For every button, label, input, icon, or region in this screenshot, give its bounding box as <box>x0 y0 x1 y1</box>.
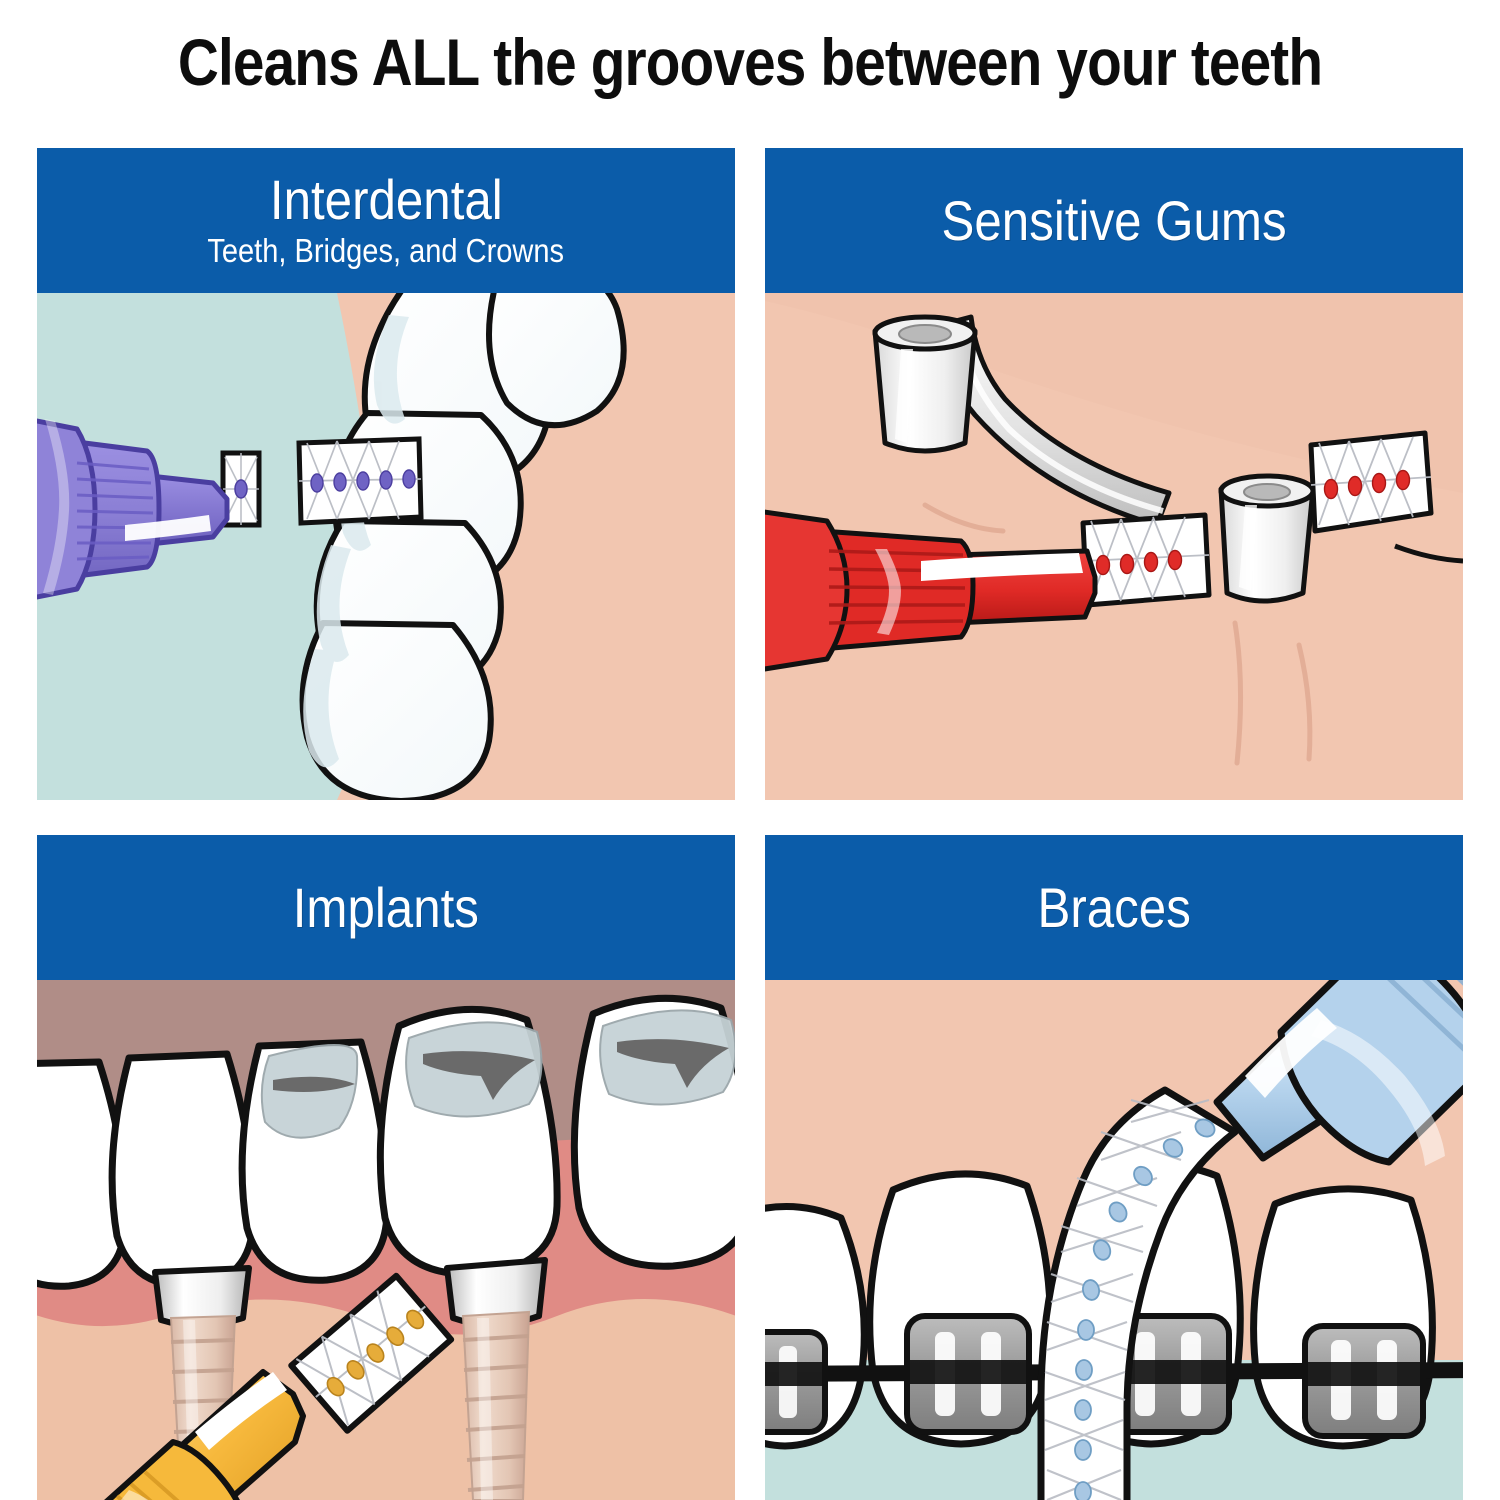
panel-illustration-interdental <box>37 293 735 800</box>
panel-header-interdental: Interdental Teeth, Bridges, and Crowns <box>37 148 735 293</box>
page-title: Cleans ALL the grooves between your teet… <box>105 24 1395 100</box>
panel-header-sensitive-gums: Sensitive Gums <box>765 148 1463 293</box>
panel-implants[interactable]: Implants <box>37 835 735 1500</box>
panel-header-implants: Implants <box>37 835 735 980</box>
panel-sensitive-gums[interactable]: Sensitive Gums <box>765 148 1463 800</box>
panel-title-implants: Implants <box>293 879 479 936</box>
panel-title-interdental: Interdental <box>270 171 503 228</box>
panel-illustration-braces <box>765 980 1463 1500</box>
panel-title-braces: Braces <box>1037 879 1190 936</box>
panel-grid: Interdental Teeth, Bridges, and Crowns <box>37 148 1463 1500</box>
panel-illustration-sensitive-gums <box>765 293 1463 800</box>
panel-interdental[interactable]: Interdental Teeth, Bridges, and Crowns <box>37 148 735 800</box>
poster-root: Cleans ALL the grooves between your teet… <box>0 0 1500 1500</box>
panel-braces[interactable]: Braces <box>765 835 1463 1500</box>
panel-title-sensitive-gums: Sensitive Gums <box>941 192 1286 249</box>
panel-illustration-implants <box>37 980 735 1500</box>
panel-header-braces: Braces <box>765 835 1463 980</box>
panel-subtitle-interdental: Teeth, Bridges, and Crowns <box>208 232 565 270</box>
